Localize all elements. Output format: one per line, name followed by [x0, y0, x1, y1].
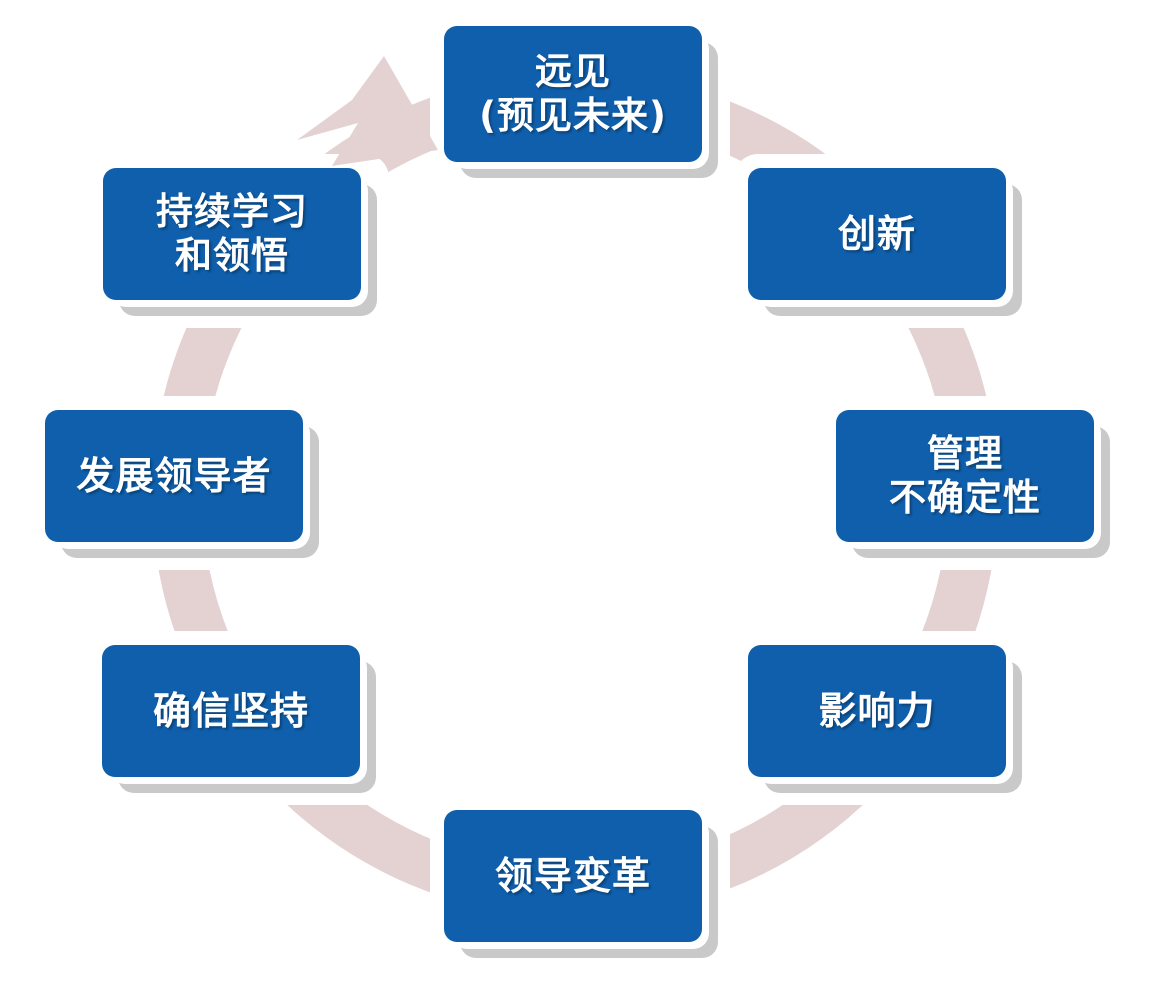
node-card[interactable]: 管理 不确定性 [836, 410, 1094, 542]
node-label: 确信坚持 [143, 689, 319, 734]
node-label: 发展领导者 [66, 454, 281, 499]
cycle-node-conviction[interactable]: 确信坚持 [102, 645, 360, 777]
node-card[interactable]: 确信坚持 [102, 645, 360, 777]
cycle-diagram: 远见 (预见未来) 创新 管理 不确定性 影响力 领导变革 [0, 0, 1150, 986]
node-label: 创新 [828, 212, 926, 257]
cycle-node-manage-uncertainty[interactable]: 管理 不确定性 [836, 410, 1094, 542]
cycle-node-innovation[interactable]: 创新 [748, 168, 1006, 300]
node-card[interactable]: 领导变革 [444, 810, 702, 942]
node-label: 影响力 [808, 689, 945, 734]
cycle-node-vision[interactable]: 远见 (预见未来) [444, 26, 702, 162]
node-label: 持续学习 和领悟 [146, 190, 318, 277]
cycle-node-continuous-learning[interactable]: 持续学习 和领悟 [103, 168, 361, 300]
cycle-node-develop-leaders[interactable]: 发展领导者 [45, 410, 303, 542]
cycle-node-influence[interactable]: 影响力 [748, 645, 1006, 777]
node-card[interactable]: 远见 (预见未来) [444, 26, 702, 162]
node-label: 领导变革 [485, 854, 661, 899]
node-card[interactable]: 创新 [748, 168, 1006, 300]
node-card[interactable]: 影响力 [748, 645, 1006, 777]
node-label: 远见 (预见未来) [469, 50, 677, 137]
node-label: 管理 不确定性 [879, 432, 1051, 519]
node-card[interactable]: 发展领导者 [45, 410, 303, 542]
node-card[interactable]: 持续学习 和领悟 [103, 168, 361, 300]
cycle-node-lead-change[interactable]: 领导变革 [444, 810, 702, 942]
